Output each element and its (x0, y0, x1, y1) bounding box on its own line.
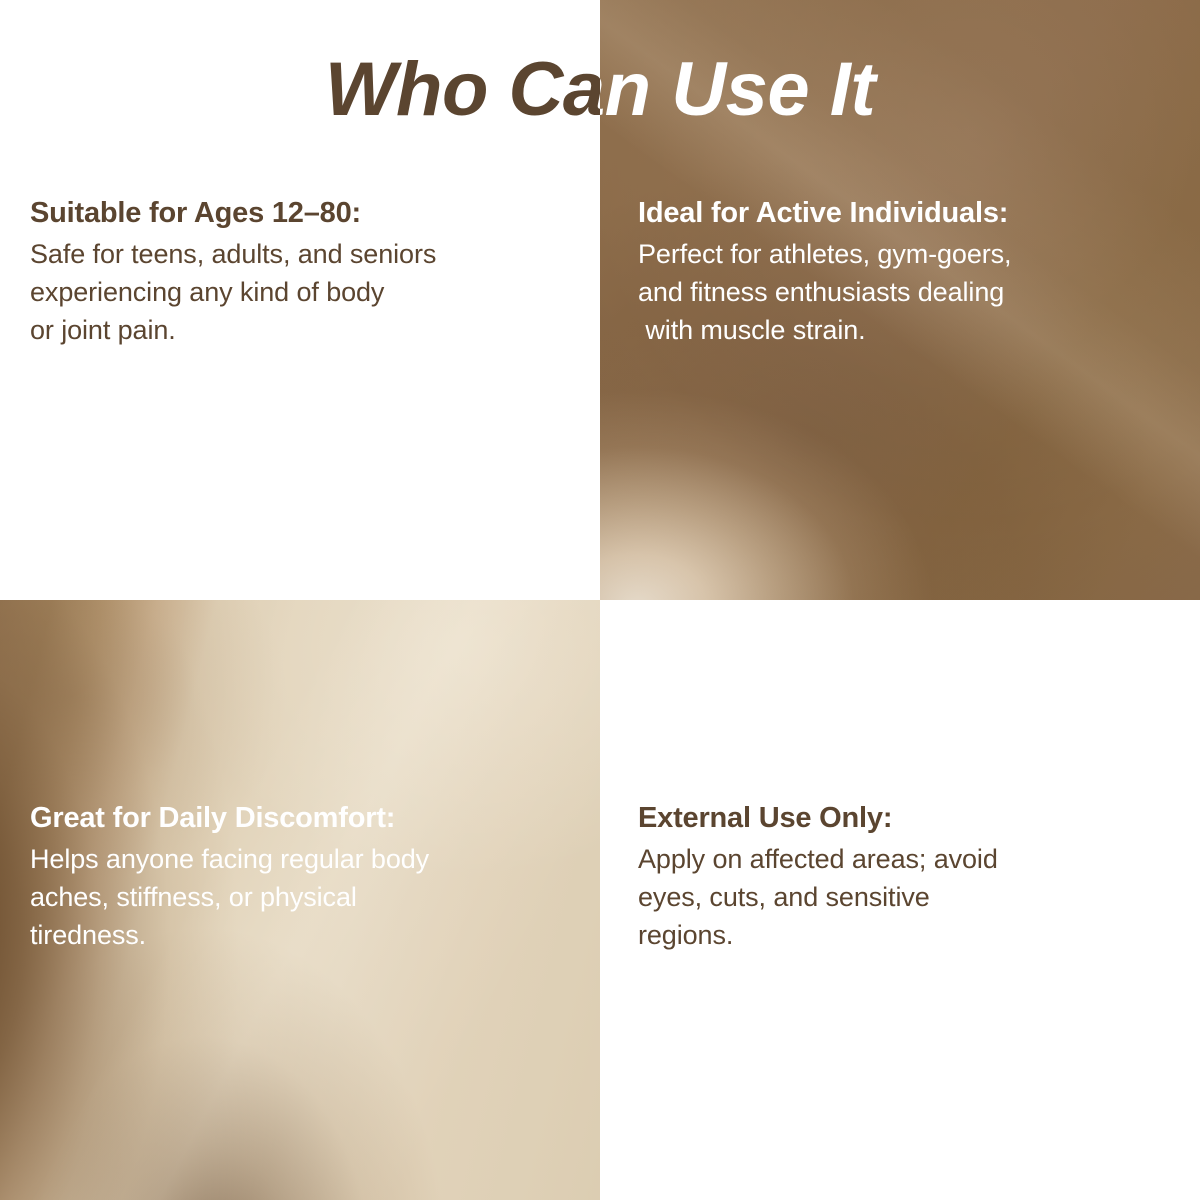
card-heading: External Use Only: (638, 798, 1163, 838)
card-body-line: Perfect for athletes, gym-goers, (638, 235, 1193, 273)
card-heading: Great for Daily Discomfort: (30, 798, 575, 838)
card-heading: Ideal for Active Individuals: (638, 193, 1193, 233)
card-body-line: Safe for teens, adults, and seniors (30, 235, 570, 273)
card-body-line: with muscle strain. (638, 311, 1193, 349)
card-ideal-for-active-individuals: Ideal for Active Individuals: Perfect fo… (638, 193, 1193, 349)
card-body-line: and fitness enthusiasts dealing (638, 273, 1193, 311)
card-body: Perfect for athletes, gym-goers, and fit… (638, 235, 1193, 349)
card-body-line: aches, stiffness, or physical (30, 878, 575, 916)
card-body-line: or joint pain. (30, 311, 570, 349)
card-body-line: Helps anyone facing regular body (30, 840, 575, 878)
card-body-line: eyes, cuts, and sensitive (638, 878, 1163, 916)
card-body-line: tiredness. (30, 916, 575, 954)
card-external-use-only: External Use Only: Apply on affected are… (638, 798, 1163, 954)
card-body: Apply on affected areas; avoid eyes, cut… (638, 840, 1163, 954)
card-great-for-daily-discomfort: Great for Daily Discomfort: Helps anyone… (30, 798, 575, 954)
card-body-line: experiencing any kind of body (30, 273, 570, 311)
card-body-line: regions. (638, 916, 1163, 954)
page-title: Who Can Use It Who Can Use It (0, 42, 1200, 138)
card-body: Helps anyone facing regular body aches, … (30, 840, 575, 954)
card-heading: Suitable for Ages 12–80: (30, 193, 570, 233)
poster-canvas: Who Can Use It Who Can Use It Suitable f… (0, 0, 1200, 1200)
card-body: Safe for teens, adults, and seniors expe… (30, 235, 570, 349)
card-body-line: Apply on affected areas; avoid (638, 840, 1163, 878)
card-suitable-for-ages: Suitable for Ages 12–80: Safe for teens,… (30, 193, 570, 349)
